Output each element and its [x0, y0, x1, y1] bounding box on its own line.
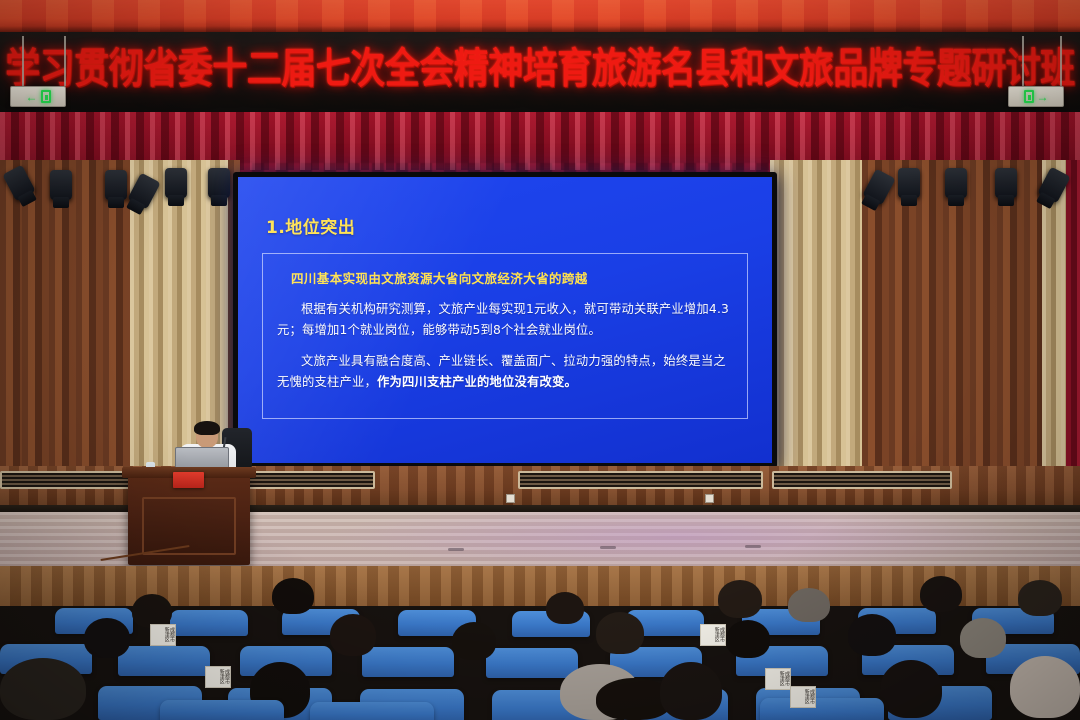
- podium-nameplate: [173, 472, 204, 488]
- auditorium-photograph: 学习贯彻省委十二届七次全会精神培育旅游名县和文旅品牌专题研讨班 ← →: [0, 0, 1080, 720]
- attendee-head: [546, 592, 584, 624]
- slide-subheading: 四川基本实现由文旅资源大省向文旅经济大省的跨越: [291, 268, 733, 287]
- seat-namecard: 成都市新津区: [765, 668, 791, 690]
- slide-surface: 1.地位突出 四川基本实现由文旅资源大省向文旅经济大省的跨越 根据有关机构研究测…: [238, 177, 772, 463]
- attendee-head: [452, 622, 496, 660]
- stage-light: [105, 170, 127, 200]
- wood-panel: [22, 160, 130, 480]
- attendee-head: [272, 578, 314, 614]
- exit-door-icon: [41, 90, 51, 103]
- seat: [160, 700, 284, 720]
- stage-floor-light-tint: [330, 512, 1030, 572]
- stage-light: [165, 168, 187, 198]
- seat: [310, 702, 434, 720]
- beige-side-curtain: [1042, 160, 1066, 480]
- stage-right-wall: [770, 160, 1080, 480]
- exit-sign-right: →: [1008, 86, 1064, 107]
- ventilation-grille: [518, 471, 763, 489]
- ventilation-grille: [772, 471, 952, 489]
- attendee-head: [788, 588, 830, 622]
- attendee-head: [1010, 656, 1080, 718]
- exit-sign-rod-left-a: [22, 36, 24, 86]
- slide-paragraph-2: 文旅产业具有融合度高、产业链长、覆盖面广、拉动力强的特点，始终是当之无愧的支柱产…: [277, 351, 733, 393]
- attendee-head: [1018, 580, 1062, 616]
- slide-emphasis-text: 作为四川支柱产业的地位没有改变。: [377, 375, 577, 389]
- seat: [362, 647, 454, 677]
- seat: [170, 610, 248, 636]
- stage-light: [898, 168, 920, 198]
- stage-light: [945, 168, 967, 198]
- seat-namecard: 成都市新津区: [790, 686, 816, 708]
- attendee-head: [726, 620, 770, 658]
- speaker-hair: [194, 421, 220, 435]
- attendee-head: [660, 662, 722, 720]
- stage-light: [50, 170, 72, 200]
- attendee-head: [880, 660, 942, 718]
- seat-namecard: 成都市新津区: [700, 624, 726, 646]
- led-presentation-screen: 1.地位突出 四川基本实现由文旅资源大省向文旅经济大省的跨越 根据有关机构研究测…: [233, 172, 777, 468]
- seat-namecard: 成都市新津区: [150, 624, 176, 646]
- exit-door-icon: [1024, 90, 1034, 103]
- exit-sign-rod-left-b: [64, 36, 66, 86]
- audience-seating-area: 成都市新津区 成都市新津区 成都市新津区 成都市新津区 成都市新津区: [0, 566, 1080, 720]
- exit-sign-rod-right-b: [1060, 36, 1062, 86]
- attendee-head: [848, 614, 896, 656]
- attendee-head: [330, 614, 376, 656]
- arrow-right-icon: →: [1037, 91, 1049, 103]
- red-side-curtain: [1066, 160, 1080, 480]
- floor-marker: [745, 545, 761, 548]
- arrow-left-icon: ←: [26, 91, 38, 103]
- exit-sign-left: ←: [10, 86, 66, 107]
- wood-panel: [0, 160, 22, 480]
- attendee-head: [596, 612, 644, 654]
- floor-marker: [600, 546, 616, 549]
- attendee-head: [0, 658, 86, 720]
- seat: [760, 698, 884, 720]
- wall-outlet: [506, 494, 515, 503]
- stage-light: [995, 168, 1017, 198]
- floor-marker: [448, 548, 464, 551]
- seat: [118, 646, 210, 676]
- slide-heading: 1.地位突出: [266, 213, 355, 238]
- slide-paragraph-1: 根据有关机构研究测算，文旅产业每实现1元收入，就可带动关联产业增加4.3元；每增…: [277, 299, 733, 341]
- conference-banner-text: 学习贯彻省委十二届七次全会精神培育旅游名县和文旅品牌专题研讨班: [0, 28, 1080, 101]
- attendee-head: [132, 594, 172, 628]
- wall-outlet: [705, 494, 714, 503]
- attendee-head: [84, 618, 130, 658]
- wood-panel: [862, 160, 1042, 480]
- seat: [486, 648, 578, 678]
- stage-light: [208, 168, 230, 198]
- seat-namecard: 成都市新津区: [205, 666, 231, 688]
- slide-content-box: 四川基本实现由文旅资源大省向文旅经济大省的跨越 根据有关机构研究测算，文旅产业每…: [262, 253, 748, 419]
- attendee-head: [960, 618, 1006, 658]
- exit-sign-rod-right-a: [1022, 36, 1024, 86]
- attendee-head: [718, 580, 762, 618]
- attendee-head: [920, 576, 962, 612]
- beige-side-curtain: [770, 160, 862, 480]
